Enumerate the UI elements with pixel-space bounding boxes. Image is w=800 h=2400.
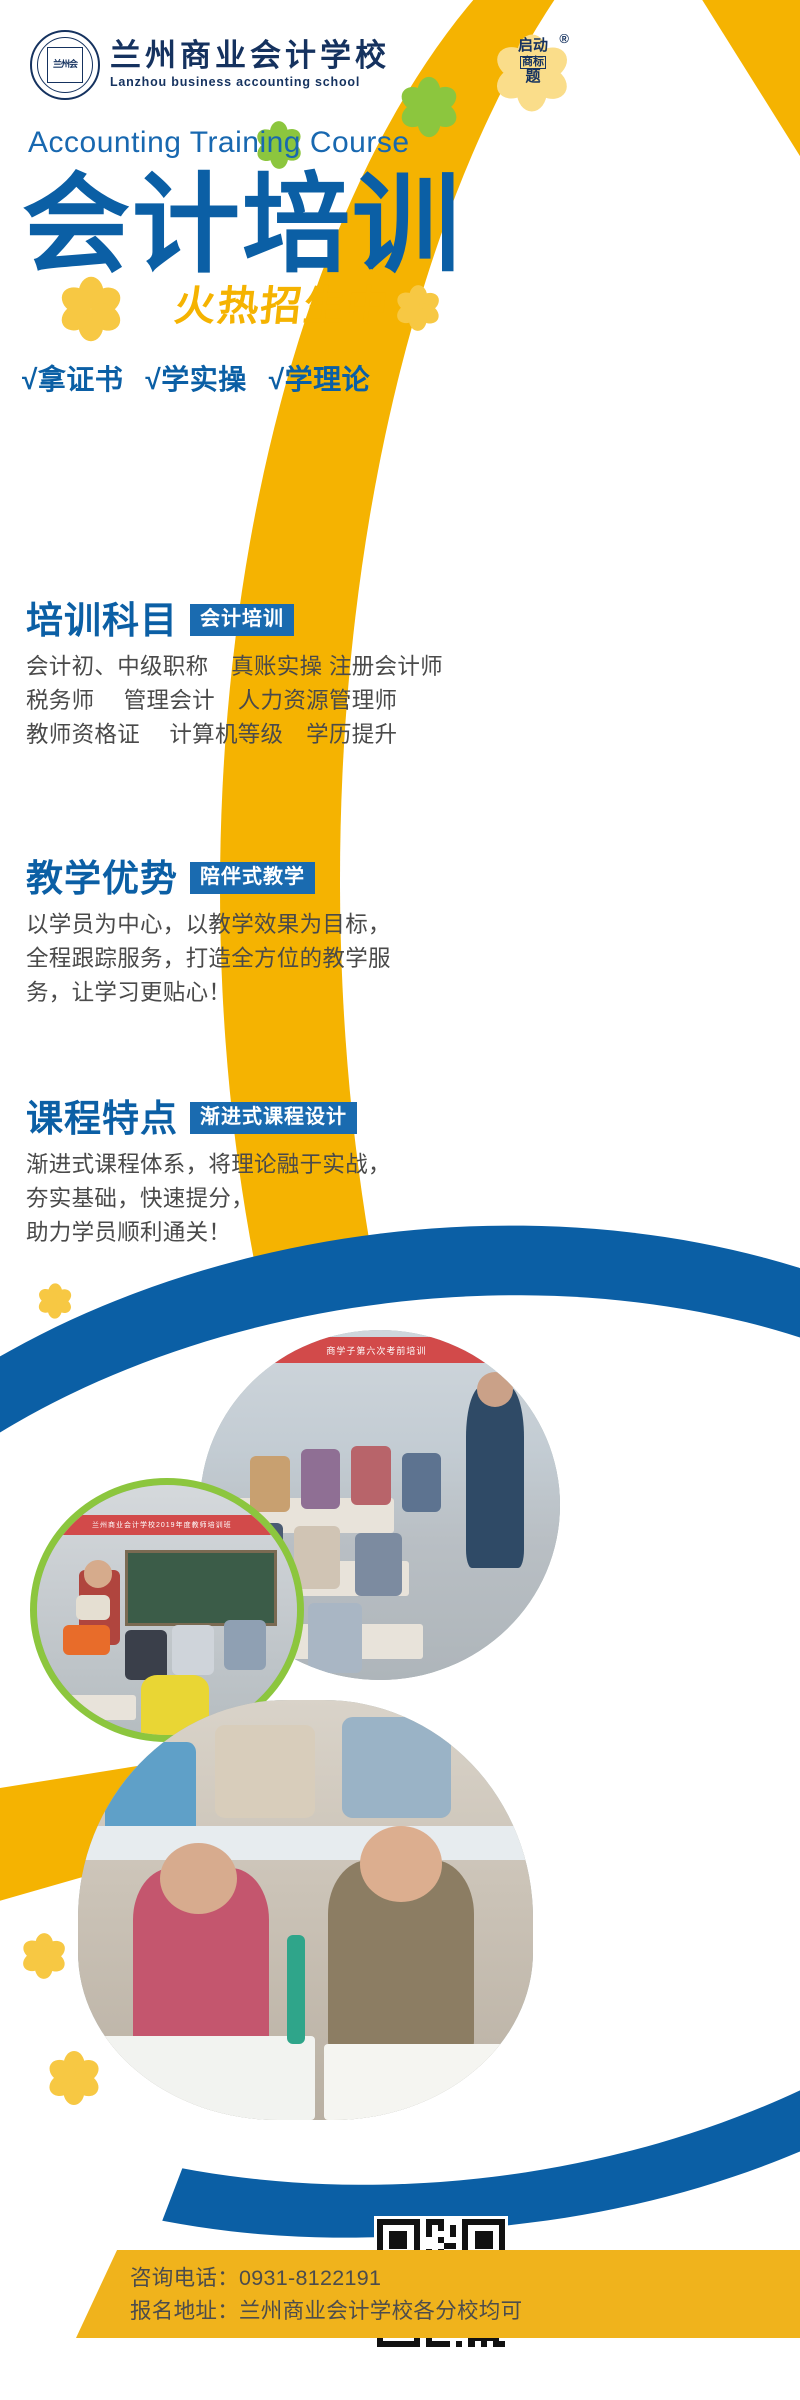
school-seal-icon: 兰州会 [30,30,100,100]
section-teaching-advantage: 教学优势 陪伴式教学 以学员为中心，以教学效果为目标， 全程跟踪服务，打造全方位… [26,860,526,1011]
photo-banner-text: 兰州商业会计学校2019年度教师培训班 [53,1515,271,1535]
section-tag-badge: 渐进式课程设计 [190,1102,357,1134]
section-tag-badge: 会计培训 [190,604,294,636]
stamp-top-text: 启动 [505,38,561,53]
benefit-checks: √拿证书 √学实操 √学理论 [22,358,370,398]
section-line: 税务师 管理会计 人力资源管理师 [26,684,526,718]
section-body: 会计初、中级职称 真账实操 注册会计师 税务师 管理会计 人力资源管理师 教师资… [26,650,526,753]
section-body: 渐进式课程体系，将理论融于实战， 夯实基础，快速提分， 助力学员顺利通关！ [26,1148,526,1251]
section-line: 务，让学习更贴心！ [26,976,526,1010]
section-line: 教师资格证 计算机等级 学历提升 [26,718,526,752]
section-title: 课程特点 [26,1100,178,1137]
benefit-check-2: √学实操 [145,358,246,398]
footer-address: 报名地址：兰州商业会计学校各分校均可 [130,2295,522,2328]
photo-banner-text: 商学子第六次考前培训 [243,1337,509,1363]
flower-icon [38,1284,72,1318]
section-line: 以学员为中心，以教学效果为目标， [26,908,526,942]
section-header: 培训科目 会计培训 [26,602,526,639]
section-training-subjects: 培训科目 会计培训 会计初、中级职称 真账实操 注册会计师 税务师 管理会计 人… [26,602,526,753]
logo-text-block: 兰州商业会计学校 Lanzhou business accounting sch… [110,40,390,91]
footer-phone: 咨询电话：0931-8122191 [130,2262,522,2295]
section-header: 教学优势 陪伴式教学 [26,860,526,897]
section-title: 培训科目 [26,602,178,639]
yellow-corner-wedge [540,0,800,220]
school-name-en: Lanzhou business accounting school [110,74,390,90]
footer-contact: 咨询电话：0931-8122191 报名地址：兰州商业会计学校各分校均可 [130,2262,522,2329]
seal-inner-text: 兰州会 [47,47,83,83]
section-line: 夯实基础，快速提分， [26,1182,526,1216]
trademark-stamp: ® 启动 商标 题 [505,38,561,100]
section-header: 课程特点 渐进式课程设计 [26,1100,526,1137]
section-title: 教学优势 [26,860,178,897]
registered-mark-icon: ® [559,32,569,45]
photo-image [78,1700,533,2120]
section-line: 渐进式课程体系，将理论融于实战， [26,1148,526,1182]
sub-title: 火热招生中 [172,272,393,332]
flower-icon [22,1934,66,1978]
section-course-features: 课程特点 渐进式课程设计 渐进式课程体系，将理论融于实战， 夯实基础，快速提分，… [26,1100,526,1251]
photo-students-writing [78,1700,533,2120]
benefit-check-1: √拿证书 [22,358,123,398]
section-line: 全程跟踪服务，打造全方位的教学服 [26,942,526,976]
photo-open-sign [63,1625,110,1655]
main-title: 会计培训 [22,165,462,286]
photo-image: 兰州商业会计学校2019年度教师培训班 [37,1485,297,1735]
flower-icon [396,286,440,330]
benefit-check-3: √学理论 [269,358,370,398]
section-line: 助力学员顺利通关！ [26,1216,526,1250]
flower-icon [60,278,122,340]
school-name-cn: 兰州商业会计学校 [110,40,390,73]
school-logo: 兰州会 兰州商业会计学校 Lanzhou business accounting… [30,30,390,100]
english-title: Accounting Training Course [28,126,410,160]
section-line: 会计初、中级职称 真账实操 注册会计师 [26,650,526,684]
poster-root: 兰州会 兰州商业会计学校 Lanzhou business accounting… [0,0,800,2400]
section-body: 以学员为中心，以教学效果为目标， 全程跟踪服务，打造全方位的教学服 务，让学习更… [26,908,526,1011]
section-tag-badge: 陪伴式教学 [190,862,315,894]
stamp-bottom-text: 题 [505,69,561,84]
